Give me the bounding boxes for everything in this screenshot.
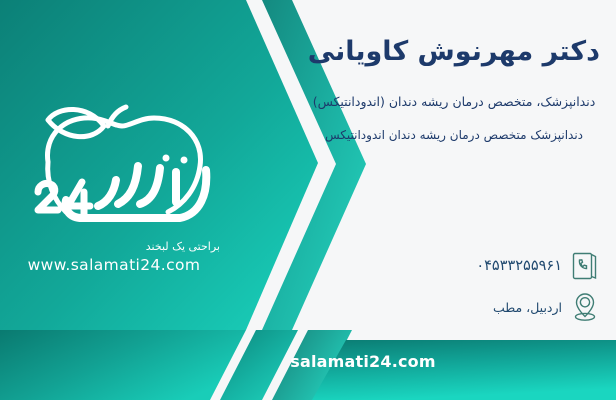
card-content: دکتر مهرنوش کاویانی دندانپزشک، متخصص درم… (276, 0, 616, 400)
map-pin-icon (568, 290, 602, 324)
logo-tagline: براحتی یک لبخند (20, 240, 220, 253)
contact-row-phone[interactable]: ۰۴۵۳۳۲۵۵۹۶۱ (476, 249, 602, 283)
phonebook-icon (568, 249, 602, 283)
brand-logo: براحتی یک لبخند www.salamati24.com (0, 96, 236, 286)
phone-number: ۰۴۵۳۳۲۵۵۹۶۱ (476, 258, 562, 274)
logo-apple-wordmark-icon (8, 96, 236, 246)
doctor-specialty-line-2: دندانپزشک متخصص درمان ریشه دندان اندودان… (306, 128, 602, 142)
footer-website[interactable]: salamati24.com (0, 352, 616, 371)
logo-website-url: www.salamati24.com (0, 256, 228, 274)
doctor-specialty-line-1: دندانپزشک، متخصص درمان ریشه دندان (اندود… (306, 94, 602, 109)
business-card: براحتی یک لبخند www.salamati24.com دکتر … (0, 0, 616, 400)
doctor-name: دکتر مهرنوش کاویانی (308, 36, 600, 67)
address-text: اردبیل، مطب (493, 300, 562, 315)
contact-row-address[interactable]: اردبیل، مطب (493, 290, 602, 324)
